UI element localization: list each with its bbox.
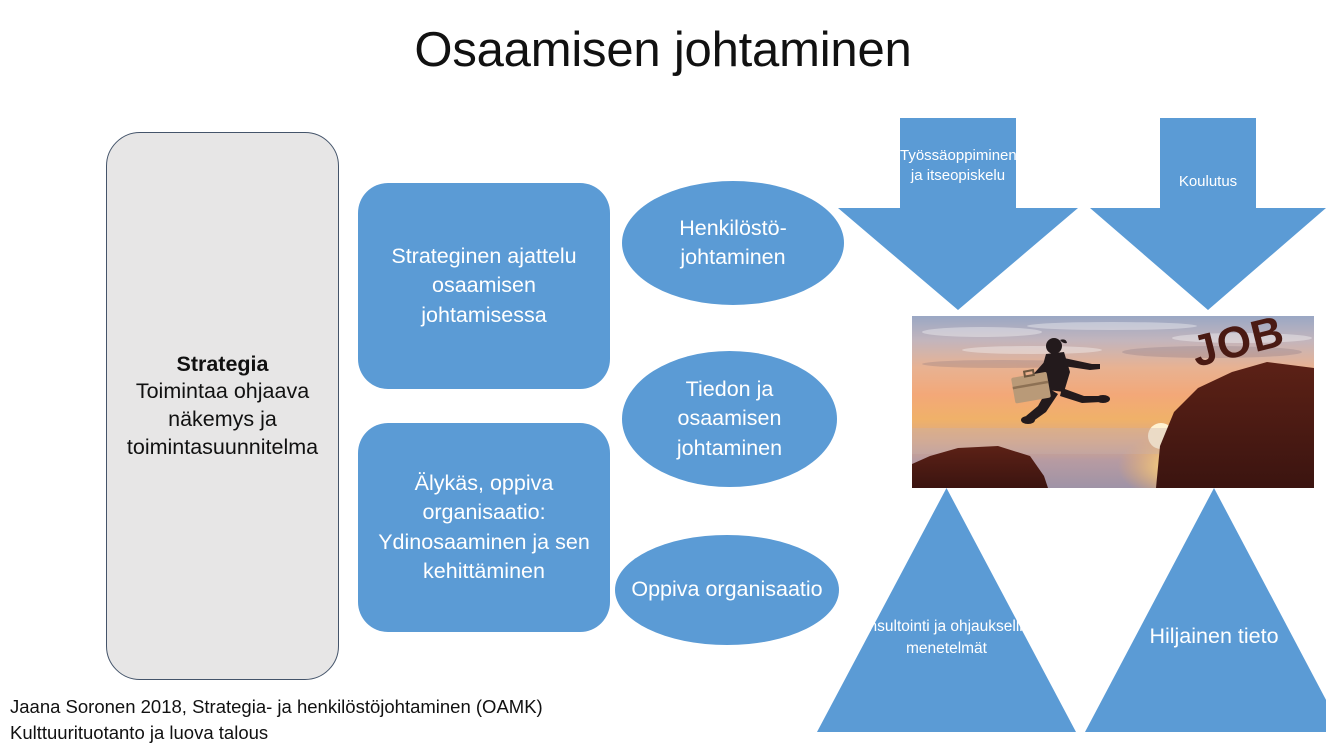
strategy-panel: Strategia Toimintaa ohjaava näkemys ja t… [106,132,339,680]
ellipse-henkilostojohtaminen-label: Henkilöstö-johtaminen [622,214,844,272]
box-strateginen-ajattelu: Strateginen ajattelu osaamisen johtamise… [358,183,610,389]
triangle-up-icon [1085,488,1326,732]
strategy-panel-heading: Strategia [120,351,325,379]
slide-canvas: Osaamisen johtaminen Strategia Toimintaa… [0,0,1326,746]
triangle-hiljainen-tieto: Hiljainen tieto [1085,488,1326,732]
box-alykas-oppiva-organisaatio-label: Älykäs, oppiva organisaatio: Ydinosaamin… [358,469,610,585]
arrow-down-icon [1090,118,1326,310]
triangle-konsultointi: Konsultointi ja ohjaukselliset menetelmä… [817,488,1076,732]
page-title: Osaamisen johtaminen [0,24,1326,77]
ellipse-oppiva-organisaatio-label: Oppiva organisaatio [619,575,834,604]
photo-job-leap: JOB [912,316,1314,488]
strategy-panel-text: Strategia Toimintaa ohjaava näkemys ja t… [120,351,325,462]
ellipse-tiedon-ja-osaamisen-johtaminen-label: Tiedon ja osaamisen johtaminen [622,375,837,462]
ellipse-tiedon-ja-osaamisen-johtaminen: Tiedon ja osaamisen johtaminen [622,351,837,487]
ellipse-oppiva-organisaatio: Oppiva organisaatio [615,535,839,645]
ellipse-henkilostojohtaminen: Henkilöstö-johtaminen [622,181,844,305]
footer-credit: Jaana Soronen 2018, Strategia- ja henkil… [10,694,543,746]
box-alykas-oppiva-organisaatio: Älykäs, oppiva organisaatio: Ydinosaamin… [358,423,610,632]
arrow-down-icon [838,118,1078,310]
footer-line-2: Kulttuurituotanto ja luova talous [10,720,543,746]
box-strateginen-ajattelu-label: Strateginen ajattelu osaamisen johtamise… [358,242,610,329]
triangle-up-icon [817,488,1076,732]
footer-line-1: Jaana Soronen 2018, Strategia- ja henkil… [10,694,543,720]
strategy-panel-body: Toimintaa ohjaava näkemys ja toimintasuu… [127,379,318,458]
photo-job-leap-image: JOB [912,316,1314,488]
arrow-down-tyossaoppiminen: Työssäoppiminen ja itseopiskelu [838,118,1078,310]
arrow-down-koulutus: Koulutus [1090,118,1326,310]
